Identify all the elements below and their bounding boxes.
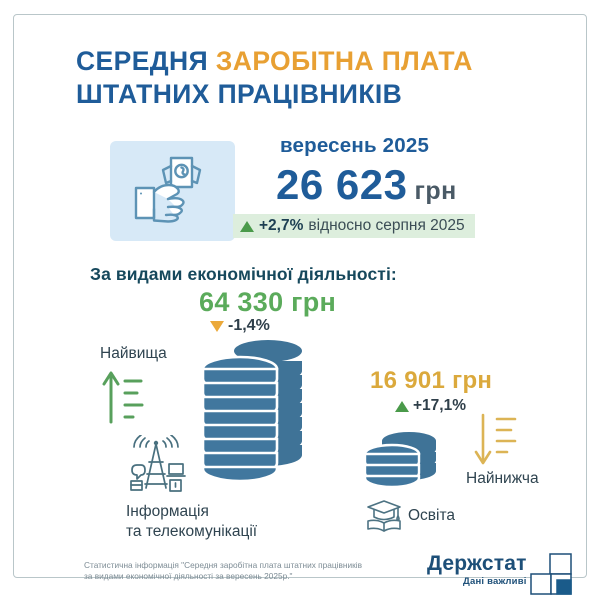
money-icon-panel [110,141,235,241]
arrow-up-bars-icon [102,367,146,425]
headline-change-text: відносно серпня 2025 [308,217,464,235]
triangle-up-icon [395,401,409,412]
title-line2: ШТАТНИХ ПРАЦІВНИКІВ [76,79,402,109]
infographic-page: СЕРЕДНЯ ЗАРОБІТНА ПЛАТА ШТАТНИХ ПРАЦІВНИ… [0,0,600,600]
headline-period: вересень 2025 [280,134,429,158]
infographic-card: СЕРЕДНЯ ЗАРОБІТНА ПЛАТА ШТАТНИХ ПРАЦІВНИ… [13,14,587,578]
headline-change-pct: +2,7% [259,217,303,235]
hand-holding-money-icon [130,152,216,230]
lowest-change: +17,1% [395,397,466,415]
highest-rank-label: Найвища [100,345,167,363]
title-line1-part2: ЗАРОБІТНА ПЛАТА [216,46,473,76]
short-coin-stack-icon [363,429,443,487]
headline-change-badge: +2,7% відносно серпня 2025 [233,214,475,238]
lowest-change-pct: +17,1% [413,397,466,415]
headline-value-group: 26 623грн [276,161,457,209]
brand: Держстат Дані важливі [427,553,527,587]
graduation-cap-book-icon [365,499,403,533]
grid-squares-logo [530,553,572,595]
highest-activity-label: Інформація та телекомунікації [126,502,257,542]
arrow-down-bars-icon [474,413,518,467]
footnote: Статистична інформація "Середня заробітн… [84,560,404,582]
highest-value: 64 330 грн [199,287,336,318]
lowest-activity-label: Освіта [408,507,455,525]
tall-coin-stack-icon [202,333,310,481]
section-heading: За видами економічної діяльності: [90,264,397,285]
triangle-up-icon [240,221,254,232]
headline-value: 26 623 [276,161,407,208]
lowest-rank-label: Найнижча [466,470,539,488]
lowest-value: 16 901 грн [370,367,492,395]
triangle-down-icon [210,321,224,332]
telecom-tower-icon [124,435,188,497]
title-line1-part1: СЕРЕДНЯ [76,46,216,76]
brand-name: Держстат [427,553,527,575]
headline-unit: грн [414,177,456,205]
brand-tagline: Дані важливі [427,576,527,587]
page-title: СЕРЕДНЯ ЗАРОБІТНА ПЛАТА ШТАТНИХ ПРАЦІВНИ… [76,45,576,111]
